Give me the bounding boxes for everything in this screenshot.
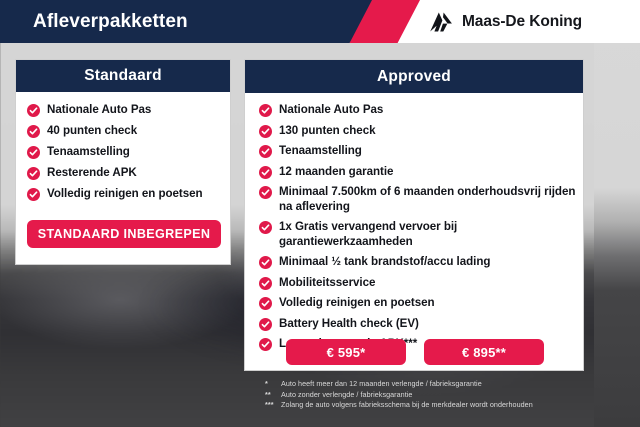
page-title: Afleverpakketten (33, 0, 188, 43)
footnote-triple-asterisk: *** Zolang de auto volgens fabrieksschem… (265, 400, 605, 411)
check-circle-icon (259, 166, 272, 179)
feature-label: 1x Gratis vervangend vervoer bij garanti… (279, 220, 583, 249)
feature-label: Battery Health check (EV) (279, 317, 419, 332)
check-circle-icon (27, 188, 40, 201)
list-item: Tenaamstelling (27, 145, 230, 160)
footnote-marker: *** (265, 400, 281, 411)
check-circle-icon (259, 277, 272, 290)
feature-label: Nationale Auto Pas (279, 103, 383, 118)
afleverpakketten-promo: Afleverpakketten Maas-De Koning Standaar… (0, 0, 640, 427)
check-circle-icon (259, 297, 272, 310)
list-item: Minimaal ½ tank brandstof/accu lading (259, 255, 583, 270)
check-circle-icon (259, 221, 272, 234)
footnote-marker: * (265, 379, 281, 390)
feature-label: 40 punten check (47, 124, 137, 139)
list-item: Volledig reinigen en poetsen (27, 187, 230, 202)
feature-list-approved: Nationale Auto Pas 130 punten check Tena… (245, 93, 583, 352)
check-circle-icon (259, 145, 272, 158)
list-item: 1x Gratis vervangend vervoer bij garanti… (259, 220, 583, 249)
feature-label: 130 punten check (279, 124, 376, 139)
feature-label: Volledig reinigen en poetsen (47, 187, 203, 202)
package-title-approved: Approved (245, 60, 583, 93)
footnote-single-asterisk: * Auto heeft meer dan 12 maanden verleng… (265, 379, 605, 390)
list-item: Battery Health check (EV) (259, 317, 583, 332)
footnote-text: Auto heeft meer dan 12 maanden verlengde… (281, 379, 482, 390)
list-item: Nationale Auto Pas (27, 103, 230, 118)
brand-lockup: Maas-De Koning (428, 0, 582, 43)
feature-label: Tenaamstelling (47, 145, 130, 160)
footnote-text: Auto zonder verlengde / fabrieksgarantie (281, 390, 412, 401)
package-card-standaard: Standaard Nationale Auto Pas 40 punten c… (15, 59, 231, 265)
maas-de-koning-logo-icon (428, 11, 454, 33)
list-item: 12 maanden garantie (259, 165, 583, 180)
check-circle-icon (259, 125, 272, 138)
footnote-block: * Auto heeft meer dan 12 maanden verleng… (265, 379, 605, 411)
list-item: Tenaamstelling (259, 144, 583, 159)
check-circle-icon (259, 318, 272, 331)
footnote-double-asterisk: ** Auto zonder verlengde / fabrieksgaran… (265, 390, 605, 401)
check-circle-icon (27, 125, 40, 138)
list-item: Volledig reinigen en poetsen (259, 296, 583, 311)
standaard-inbegrepen-button[interactable]: STANDAARD INBEGREPEN (27, 220, 221, 248)
feature-label: Resterende APK (47, 166, 137, 181)
list-item: Nationale Auto Pas (259, 103, 583, 118)
footnote-text: Zolang de auto volgens fabrieksschema bi… (281, 400, 533, 411)
check-circle-icon (27, 146, 40, 159)
check-circle-icon (27, 104, 40, 117)
background-right-edge (594, 0, 640, 427)
check-circle-icon (27, 167, 40, 180)
feature-label: Tenaamstelling (279, 144, 362, 159)
brand-name: Maas-De Koning (462, 13, 582, 31)
feature-label: Nationale Auto Pas (47, 103, 151, 118)
feature-list-standaard: Nationale Auto Pas 40 punten check Tenaa… (16, 92, 230, 202)
feature-label: Minimaal 7.500km of 6 maanden onderhouds… (279, 185, 583, 214)
feature-label: Minimaal ½ tank brandstof/accu lading (279, 255, 490, 270)
price-button-row: € 595* € 895** (245, 339, 584, 365)
feature-label: 12 maanden garantie (279, 165, 393, 180)
top-banner: Afleverpakketten Maas-De Koning (0, 0, 640, 43)
feature-label: Volledig reinigen en poetsen (279, 296, 435, 311)
price-button-595[interactable]: € 595* (286, 339, 406, 365)
check-circle-icon (259, 186, 272, 199)
package-title-standaard: Standaard (16, 60, 230, 92)
feature-label: Mobiliteitsservice (279, 276, 375, 291)
check-circle-icon (259, 104, 272, 117)
check-circle-icon (259, 256, 272, 269)
list-item: 130 punten check (259, 124, 583, 139)
list-item: 40 punten check (27, 124, 230, 139)
package-card-approved: Approved Nationale Auto Pas 130 punten c… (244, 59, 584, 371)
price-button-895[interactable]: € 895** (424, 339, 544, 365)
footnote-marker: ** (265, 390, 281, 401)
list-item: Minimaal 7.500km of 6 maanden onderhouds… (259, 185, 583, 214)
list-item: Resterende APK (27, 166, 230, 181)
list-item: Mobiliteitsservice (259, 276, 583, 291)
